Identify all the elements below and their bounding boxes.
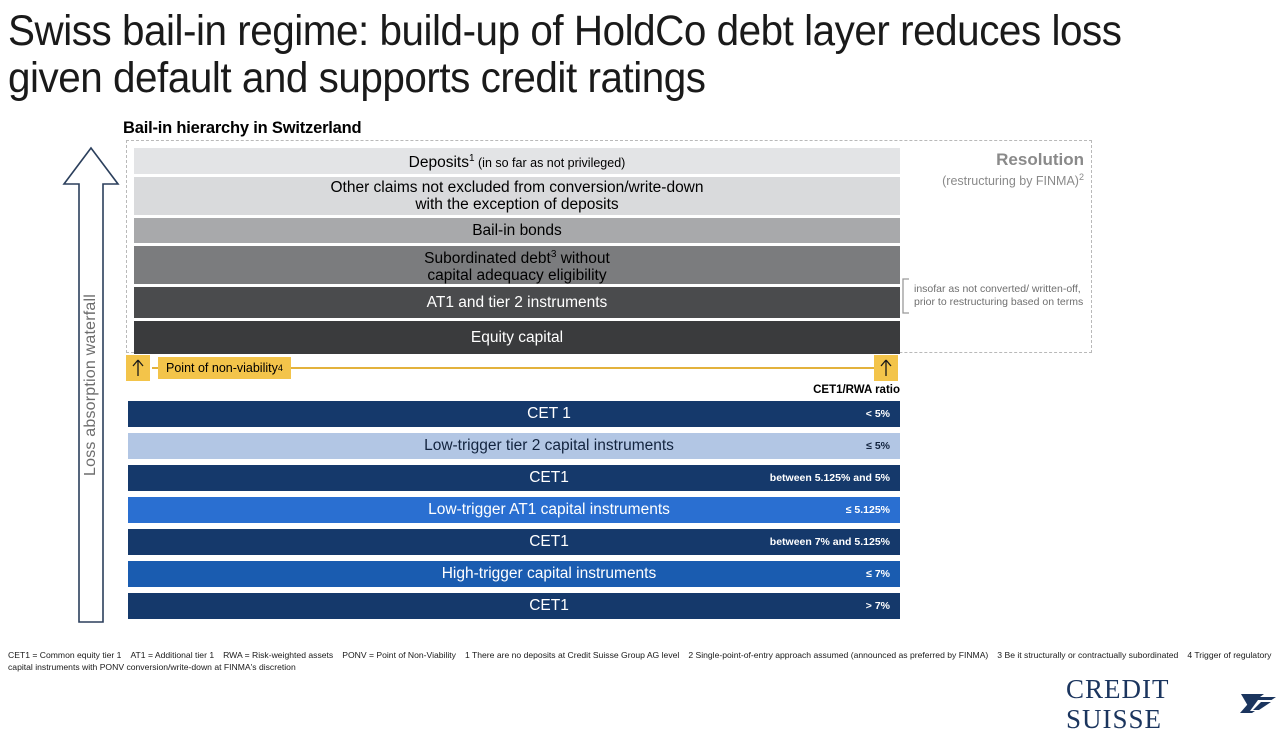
capital-bar-ratio: < 5% [866,401,890,427]
footnote-abbreviation: CET1 = Common equity tier 1 [8,650,121,660]
ponv-label-text: Point of non-viability [166,361,278,375]
hierarchy-bar-label: Deposits1 (in so far as not privileged) [403,150,632,172]
capital-bar-label: CET 1 [128,405,900,423]
slide-root: Swiss bail-in regime: build-up of HoldCo… [0,0,1280,721]
capital-bar-high-trigger: High-trigger capital instruments≤ 7% [128,561,900,587]
loss-absorption-arrow-icon [62,146,120,624]
point-of-non-viability-row: Point of non-viability4 [126,355,900,381]
capital-bar-cet1-above-7: CET1> 7% [128,593,900,619]
bracket-icon [901,278,911,314]
ponv-arrow-up-right-icon [874,355,898,381]
hierarchy-bar-label-small: without [556,250,609,267]
ponv-label: Point of non-viability4 [158,357,291,379]
hierarchy-bar-label-small: (in so far as not privileged) [475,156,626,170]
hierarchy-bar-label-main: Other claims not excluded from conversio… [330,179,703,196]
capital-instruments-stack: CET 1< 5%Low-trigger tier 2 capital inst… [128,401,900,625]
hierarchy-bar-subordinated-debt: Subordinated debt3 withoutcapital adequa… [134,246,900,284]
capital-bar-ratio: ≤ 5.125% [846,497,890,523]
ponv-label-sup: 4 [278,363,283,373]
footnote-abbreviation: AT1 = Additional tier 1 [130,650,214,660]
bracket-note: insofar as not converted/ written-off, p… [914,283,1104,309]
hierarchy-bar-equity-capital: Equity capital [134,321,900,354]
hierarchy-bar-other-claims: Other claims not excluded from conversio… [134,177,900,215]
capital-bar-cet1-below-5: CET 1< 5% [128,401,900,427]
capital-bar-label: Low-trigger AT1 capital instruments [128,501,900,519]
hierarchy-bar-label-line2: capital adequacy eligibility [424,267,610,284]
hierarchy-bar-label-main: Deposits [409,154,469,171]
capital-bar-ratio: between 5.125% and 5% [770,465,890,491]
credit-suisse-sails-icon [1238,691,1280,717]
hierarchy-bar-at1-tier2: AT1 and tier 2 instruments [134,287,900,318]
footnote-abbreviation: RWA = Risk-weighted assets [223,650,333,660]
bail-in-hierarchy-stack: Deposits1 (in so far as not privileged)O… [134,148,900,357]
ponv-arrow-up-left-icon [126,355,150,381]
hierarchy-bar-label: Bail-in bonds [466,222,568,239]
hierarchy-bar-label: Subordinated debt3 withoutcapital adequa… [418,246,616,284]
capital-bar-ratio: ≤ 5% [866,433,890,459]
hierarchy-bar-label-line2: with the exception of deposits [330,196,703,213]
footnote-abbreviation: PONV = Point of Non-Viability [342,650,456,660]
footnote-note: 3 Be it structurally or contractually su… [997,650,1178,660]
footnotes: CET1 = Common equity tier 1AT1 = Additio… [8,650,1276,673]
credit-suisse-logo: CREDIT SUISSE [1066,674,1280,734]
capital-bar-ratio: ≤ 7% [866,561,890,587]
hierarchy-bar-label: AT1 and tier 2 instruments [421,294,614,311]
ratio-column-heading: CET1/RWA ratio [700,384,900,396]
hierarchy-bar-label-main: Subordinated debt [424,250,551,267]
hierarchy-bar-deposits: Deposits1 (in so far as not privileged) [134,148,900,174]
capital-bar-cet1-7-to-5125: CET1between 7% and 5.125% [128,529,900,555]
footnote-note: 1 There are no deposits at Credit Suisse… [465,650,679,660]
hierarchy-bar-label-main: AT1 and tier 2 instruments [427,294,608,311]
logo-text: CREDIT SUISSE [1066,674,1230,734]
capital-bar-ratio: between 7% and 5.125% [770,529,890,555]
hierarchy-bar-label: Equity capital [465,329,569,346]
capital-bar-low-trigger-at1: Low-trigger AT1 capital instruments≤ 5.1… [128,497,900,523]
capital-bar-low-trigger-tier2: Low-trigger tier 2 capital instruments≤ … [128,433,900,459]
capital-bar-cet1-5125-to-5: CET1between 5.125% and 5% [128,465,900,491]
section-heading: Bail-in hierarchy in Switzerland [123,119,361,138]
capital-bar-label: CET1 [128,597,900,615]
capital-bar-label: Low-trigger tier 2 capital instruments [128,437,900,455]
hierarchy-bar-bail-in-bonds: Bail-in bonds [134,218,900,243]
resolution-subtitle-text: (restructuring by FINMA) [942,174,1079,188]
footnote-note: 2 Single-point-of-entry approach assumed… [688,650,988,660]
page-title: Swiss bail-in regime: build-up of HoldCo… [8,8,1174,102]
resolution-subtitle-sup: 2 [1079,172,1084,182]
capital-bar-label: High-trigger capital instruments [128,565,900,583]
hierarchy-bar-label-main: Equity capital [471,329,563,346]
capital-bar-ratio: > 7% [866,593,890,619]
hierarchy-bar-label-main: Bail-in bonds [472,222,562,239]
hierarchy-bar-label: Other claims not excluded from conversio… [324,179,709,213]
